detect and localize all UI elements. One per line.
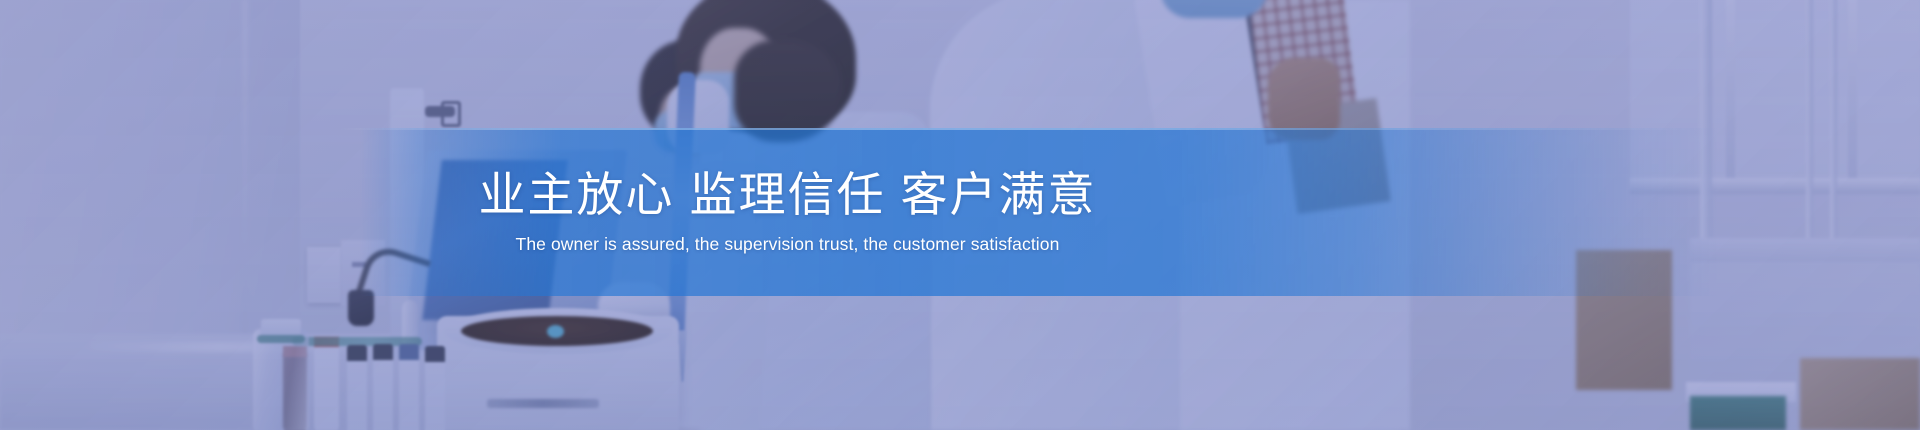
banner-subheadline: The owner is assured, the supervision tr… [516,234,1060,255]
banner-headline: 业主放心 监理信任 客户满意 [478,169,1096,222]
hero-banner: 业主放心 监理信任 客户满意 The owner is assured, the… [0,0,1920,430]
banner-text-block: 业主放心 监理信任 客户满意 The owner is assured, the… [0,128,1575,296]
